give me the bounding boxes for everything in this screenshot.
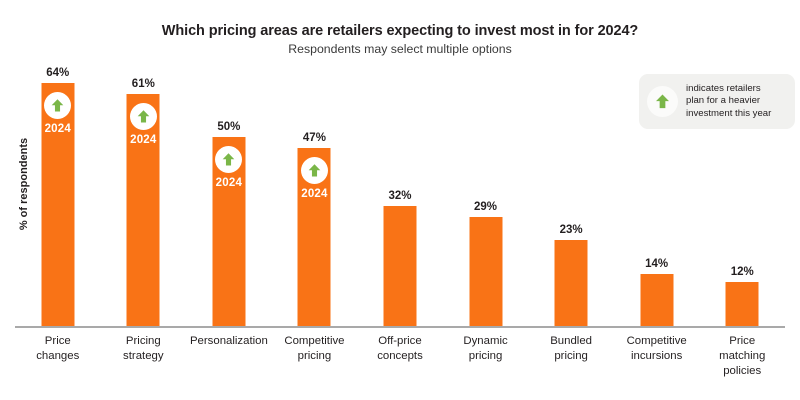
bar-value-label: 23% xyxy=(560,224,583,236)
x-axis-category-label: Competitivepricing xyxy=(272,334,358,364)
bar-slot: 50%2024 xyxy=(186,60,272,328)
bar-column[interactable]: 50%2024 xyxy=(212,137,245,328)
bar[interactable]: 50%2024 xyxy=(212,137,245,328)
bar-value-label: 50% xyxy=(217,121,240,133)
bar-column[interactable]: 23% xyxy=(555,240,588,328)
bar[interactable]: 23% xyxy=(555,240,588,328)
heavier-investment-badge: 2024 xyxy=(44,92,71,135)
x-axis-category-label: Bundledpricing xyxy=(528,334,614,364)
bar[interactable]: 14% xyxy=(640,274,673,328)
badge-year-label: 2024 xyxy=(130,134,156,146)
green-up-arrow-icon xyxy=(215,146,242,173)
x-axis-category-label: Pricingstrategy xyxy=(101,334,187,364)
bar-column[interactable]: 32% xyxy=(383,206,416,329)
heavier-investment-badge: 2024 xyxy=(130,103,157,146)
x-axis-category-label: Dynamicpricing xyxy=(443,334,529,364)
bar[interactable]: 61%2024 xyxy=(127,94,160,328)
green-up-arrow-icon xyxy=(130,103,157,130)
bar[interactable]: 32% xyxy=(383,206,416,329)
bar-value-label: 12% xyxy=(731,266,754,278)
bar-value-label: 47% xyxy=(303,132,326,144)
bar-slot: 61%2024 xyxy=(101,60,187,328)
x-axis-category-label: Off-priceconcepts xyxy=(357,334,443,364)
bar-slot: 23% xyxy=(528,60,614,328)
bar[interactable]: 47%2024 xyxy=(298,148,331,328)
green-up-arrow-icon xyxy=(44,92,71,119)
legend: indicates retailersplan for a heavierinv… xyxy=(639,74,795,129)
badge-year-label: 2024 xyxy=(216,177,242,189)
bar[interactable]: 29% xyxy=(469,217,502,328)
bar-slot: 47%2024 xyxy=(272,60,358,328)
title-block: Which pricing areas are retailers expect… xyxy=(0,22,800,58)
bar-value-label: 14% xyxy=(645,258,668,270)
heavier-investment-badge: 2024 xyxy=(215,146,242,189)
heavier-investment-badge: 2024 xyxy=(301,157,328,200)
x-axis-category-label: Pricematchingpolicies xyxy=(699,334,785,379)
legend-text: indicates retailersplan for a heavierinv… xyxy=(686,83,771,120)
bar-column[interactable]: 61%2024 xyxy=(127,94,160,328)
x-axis-category-label: Pricechanges xyxy=(15,334,101,364)
bar-slot: 29% xyxy=(443,60,529,328)
chart-subtitle: Respondents may select multiple options xyxy=(0,41,800,58)
badge-year-label: 2024 xyxy=(301,188,327,200)
green-up-arrow-icon xyxy=(301,157,328,184)
x-axis-line xyxy=(15,326,785,328)
bar-column[interactable]: 14% xyxy=(640,274,673,328)
bar-value-label: 29% xyxy=(474,201,497,213)
bar-column[interactable]: 47%2024 xyxy=(298,148,331,328)
bar-value-label: 61% xyxy=(132,78,155,90)
bar[interactable]: 64%2024 xyxy=(41,83,74,328)
x-axis-categories: PricechangesPricingstrategyPersonalizati… xyxy=(15,334,785,396)
bar-slot: 64%2024 xyxy=(15,60,101,328)
bar-column[interactable]: 29% xyxy=(469,217,502,328)
x-axis-category-label: Competitiveincursions xyxy=(614,334,700,364)
bar-chart: Which pricing areas are retailers expect… xyxy=(0,0,800,400)
green-up-arrow-icon xyxy=(647,86,678,117)
bar-value-label: 64% xyxy=(46,67,69,79)
bar[interactable]: 12% xyxy=(726,282,759,328)
bar-column[interactable]: 64%2024 xyxy=(41,83,74,328)
badge-year-label: 2024 xyxy=(45,123,71,135)
bar-value-label: 32% xyxy=(388,190,411,202)
bar-column[interactable]: 12% xyxy=(726,282,759,328)
bar-slot: 32% xyxy=(357,60,443,328)
x-axis-category-label: Personalization xyxy=(186,334,272,349)
chart-title: Which pricing areas are retailers expect… xyxy=(0,22,800,40)
